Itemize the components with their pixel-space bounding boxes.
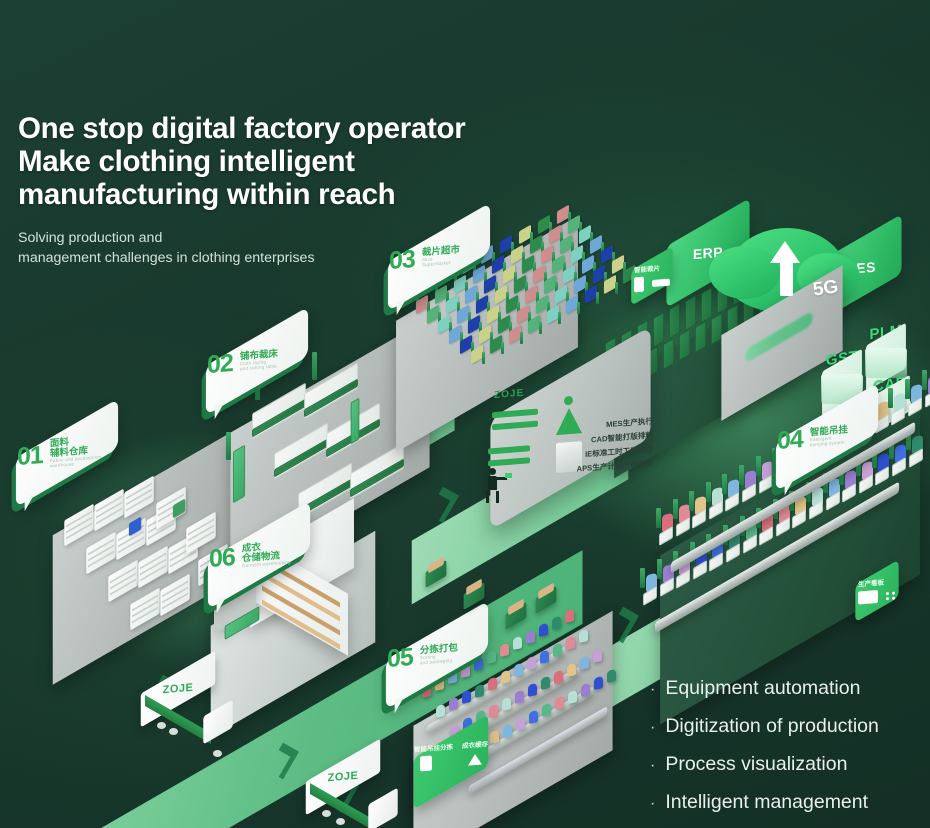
panel-bar-2 [492, 421, 538, 431]
stage-en-line-2: hanging system [810, 440, 848, 448]
conveyor-cell [685, 295, 696, 331]
hanging-station-post [706, 482, 711, 502]
hanging-station-post [657, 559, 662, 579]
badge-production-kanban-label: 生产看板 [858, 575, 896, 588]
operator-leg-left [486, 491, 489, 503]
list-item-label: Intelligent management [665, 791, 868, 813]
panel-line-cad: CAD智能打版排料 [591, 429, 653, 445]
stage-number: 04 [777, 426, 803, 453]
operator-leg-right [496, 491, 499, 503]
sorted-garment [566, 636, 575, 650]
title-line-3: manufacturing within reach [18, 178, 465, 211]
cut-piece-divider [615, 282, 618, 294]
stage-number: 03 [389, 246, 415, 273]
callout-tail [215, 400, 226, 419]
truck-wheel-2 [336, 818, 345, 825]
panel-bar-3 [488, 445, 530, 454]
panel-line-aps: APS生产计划产线安排 [577, 457, 653, 474]
hanging-station-post [905, 379, 910, 399]
sorted-garment [567, 663, 576, 677]
sorted-garment [503, 724, 512, 738]
cut-piece-divider [539, 322, 542, 334]
stage-number: 01 [17, 442, 43, 469]
title-line-2: Make clothing intelligent [18, 145, 465, 178]
hanging-station-post [656, 508, 661, 528]
stage-number: 02 [207, 350, 233, 377]
operator-tablet-icon [505, 473, 512, 478]
hanging-station-post [922, 370, 927, 390]
stage-en-line-2: Supermarket [422, 260, 460, 268]
panel-line-mes: MES生产执行 [606, 415, 653, 430]
hanging-station-post [673, 499, 678, 519]
sorted-garment [526, 630, 535, 644]
list-item: ·Intelligent management [650, 784, 879, 822]
conveyor-cell [669, 303, 680, 339]
sorted-garment [594, 676, 603, 690]
operator-head [489, 468, 496, 475]
cache-document-icon [420, 756, 432, 772]
sorted-garment [488, 677, 497, 691]
cut-piece-divider [577, 302, 580, 314]
stage-number: 06 [209, 544, 235, 571]
sorted-garment [552, 616, 561, 630]
stage-en-line-2: and packaging [420, 658, 458, 666]
hanging-station-post [888, 388, 893, 408]
dashboard-dots-icon [886, 591, 896, 600]
sorted-garment [501, 670, 510, 684]
subtitle-line-2: management challenges in clothing enterp… [18, 248, 315, 268]
conveyor-cell [701, 286, 712, 322]
sorted-garment [514, 663, 523, 677]
sewing-machine-table [709, 500, 723, 520]
sorted-garment [528, 683, 537, 697]
hanging-station-post [739, 465, 744, 485]
sorted-garment [502, 697, 511, 711]
cut-piece-divider [501, 342, 504, 354]
sorted-garment [565, 609, 574, 623]
hanging-station-post [756, 456, 761, 476]
hanging-station-post [640, 568, 645, 588]
sorted-garment [436, 704, 445, 718]
truck-wheel-1 [157, 722, 166, 729]
feature-list: ·Equipment automation ·Digitization of p… [650, 670, 879, 822]
sorted-garment [542, 703, 551, 717]
list-item: ·Process visualization [650, 746, 879, 784]
subtitle-line-1: Solving production and [18, 228, 315, 248]
list-item-label: Digitization of production [665, 715, 879, 737]
cut-piece-divider [482, 352, 485, 364]
sewing-machine-table [676, 517, 690, 537]
list-item-label: Process visualization [665, 753, 847, 775]
page-title: One stop digital factory operator Make c… [18, 112, 465, 211]
cut-piece-divider [520, 332, 523, 344]
bullet-marker: · [650, 795, 655, 812]
sorted-garment [449, 697, 458, 711]
list-item: ·Equipment automation [650, 670, 879, 708]
conveyor-cell [653, 312, 664, 348]
truck-wheel-2 [169, 728, 178, 735]
callout-tail [397, 296, 408, 315]
panel-person-head-icon [564, 396, 573, 406]
document-icon [634, 277, 644, 293]
hanging-station-post [689, 491, 694, 511]
sorted-garment [607, 669, 616, 683]
truck-cab [368, 788, 397, 828]
subtitle: Solving production and management challe… [18, 228, 315, 268]
infographic-canvas: One stop digital factory operator Make c… [0, 0, 930, 828]
list-item: ·Digitization of production [650, 708, 879, 746]
panel-brand: ZOJE [494, 388, 524, 401]
sorted-garment [540, 650, 549, 664]
sorted-garment [581, 683, 590, 697]
sorted-garment [516, 717, 525, 731]
upload-arrow-icon [770, 241, 800, 263]
sorted-garment [554, 670, 563, 684]
panel-text-lines: MES生产执行 CAD智能打版排料 IE标准工时工序编排 APS生产计划产线安排 [577, 415, 653, 474]
stage-en-line-2: and cutting table [240, 364, 278, 372]
sorted-garment [539, 623, 548, 637]
sorted-garment [489, 704, 498, 718]
cut-piece-divider [558, 312, 561, 324]
panel-bar-4 [488, 457, 530, 466]
sorted-garment [475, 684, 484, 698]
badge-hanging-sort-label-2: 成衣缓存 [462, 738, 488, 750]
sorted-garment [580, 656, 589, 670]
dashboard-screen-icon [858, 590, 878, 605]
upload-arrow-stem [780, 262, 793, 296]
truck-wheel-3 [213, 750, 222, 757]
list-item-label: Equipment automation [665, 677, 860, 699]
sorted-garment [579, 629, 588, 643]
hanging-station-post [722, 474, 727, 494]
bullet-marker: · [650, 719, 655, 736]
cloud-5g-label: 5G [811, 276, 839, 301]
sorted-garment [553, 643, 562, 657]
title-line-1: One stop digital factory operator [18, 112, 465, 145]
truck-wheel-1 [322, 810, 331, 817]
bullet-marker: · [650, 757, 655, 774]
callout-tail [25, 492, 36, 511]
sorted-garment [515, 690, 524, 704]
badge-hanging-sort-label-1: 智能吊挂分拣 [414, 741, 453, 754]
sorted-garment [500, 643, 509, 657]
badge-smart-cut-label: 智能裁片 [634, 262, 670, 275]
sort-arrow-icon [468, 754, 482, 766]
stage-callout-01[interactable]: 01 面料 辅料仓库 Fabric and accessories wareho… [16, 399, 118, 508]
sorted-garment [568, 690, 577, 704]
cutting-gantry-post-3 [226, 432, 231, 460]
stage-number: 05 [387, 644, 413, 671]
operator-figure [486, 468, 499, 508]
operator-body [488, 476, 497, 490]
sorted-garment [529, 710, 538, 724]
arrow-icon [652, 279, 670, 287]
panel-bar-1 [492, 409, 538, 419]
sorted-garment [593, 649, 602, 663]
cut-piece-divider [596, 292, 599, 304]
bullet-marker: · [650, 681, 655, 698]
